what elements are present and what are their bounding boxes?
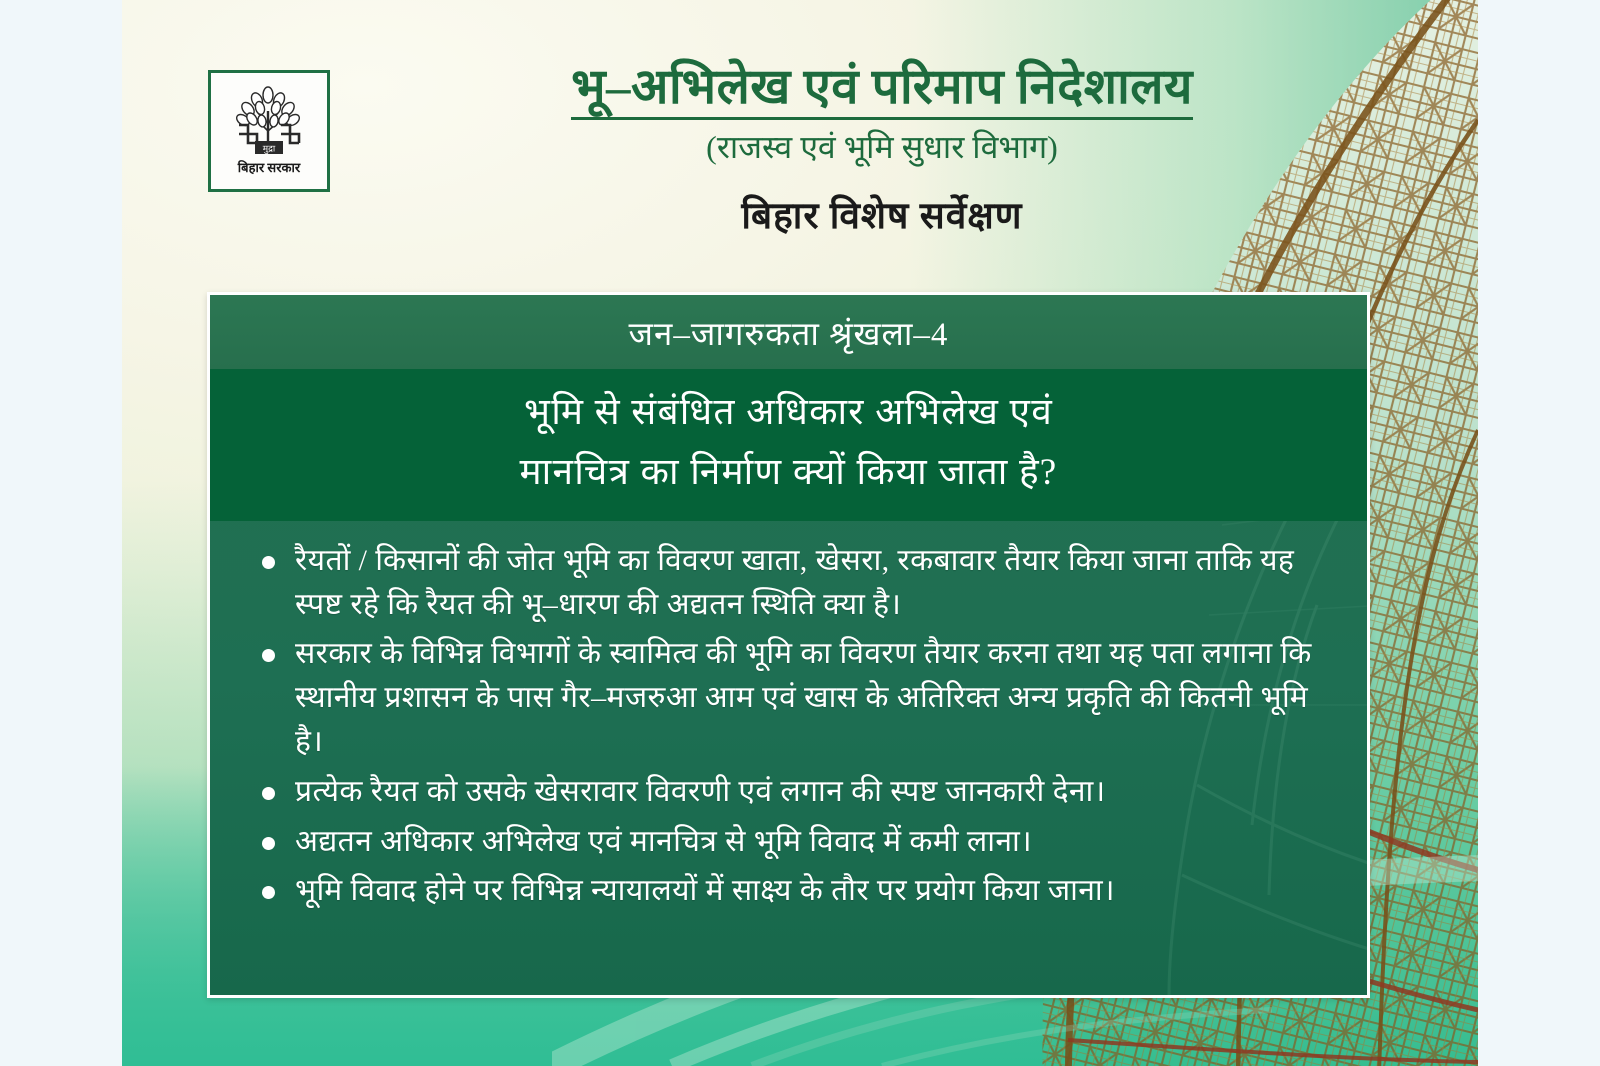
question-line-2: मानचित्र का निर्माण क्यों किया जाता है? [250, 443, 1327, 503]
bullet-dot-icon [262, 886, 275, 899]
list-item-text: सरकार के विभिन्न विभागों के स्वामित्व की… [295, 632, 1321, 763]
poster-header: मुद्रा बिहार सरकार भू–अभिलेख एवं परिमाप … [122, 0, 1478, 280]
list-item: रैयतों / किसानों की जोत भूमि का विवरण खा… [250, 539, 1321, 627]
organization-title: भू–अभिलेख एवं परिमाप निदेशालय [571, 60, 1193, 120]
list-item: प्रत्येक रैयत को उसके खेसरावार विवरणी एव… [250, 770, 1321, 814]
list-item: भूमि विवाद होने पर विभिन्न न्यायालयों मे… [250, 869, 1321, 913]
list-item: सरकार के विभिन्न विभागों के स्वामित्व की… [250, 632, 1321, 763]
organization-subtitle: (राजस्व एवं भूमि सुधार विभाग) [352, 128, 1412, 166]
list-item: अद्यतन अधिकार अभिलेख एवं मानचित्र से भूम… [250, 820, 1321, 864]
poster-canvas: मुद्रा बिहार सरकार भू–अभिलेख एवं परिमाप … [0, 0, 1600, 1066]
title-block: भू–अभिलेख एवं परिमाप निदेशालय (राजस्व एव… [352, 60, 1412, 239]
bullet-list: रैयतों / किसानों की जोत भूमि का विवरण खा… [210, 521, 1367, 913]
question-band: भूमि से संबंधित अधिकार अभिलेख एवं मानचित… [210, 369, 1367, 521]
bullet-dot-icon [262, 837, 275, 850]
list-item-text: रैयतों / किसानों की जोत भूमि का विवरण खा… [295, 539, 1321, 627]
list-item-text: प्रत्येक रैयत को उसके खेसरावार विवरणी एव… [295, 770, 1106, 814]
survey-title: बिहार विशेष सर्वेक्षण [352, 188, 1412, 239]
awareness-series-band: जन–जागरुकता श्रृंखला–4 [210, 295, 1367, 369]
bihar-government-emblem: मुद्रा बिहार सरकार [208, 70, 330, 192]
question-line-1: भूमि से संबंधित अधिकार अभिलेख एवं [250, 383, 1327, 443]
bullet-dot-icon [262, 787, 275, 800]
crop-mark-bottom-left [122, 1056, 138, 1066]
list-item-text: अद्यतन अधिकार अभिलेख एवं मानचित्र से भूम… [295, 820, 1032, 864]
svg-text:मुद्रा: मुद्रा [263, 144, 276, 155]
bullet-dot-icon [262, 649, 275, 662]
right-margin [1478, 0, 1600, 1066]
awareness-series-label: जन–जागरुकता श्रृंखला–4 [629, 310, 949, 355]
bullet-dot-icon [262, 556, 275, 569]
content-panel: जन–जागरुकता श्रृंखला–4 भूमि से संबंधित अ… [207, 292, 1370, 998]
left-margin [0, 0, 122, 1066]
poster-background: मुद्रा बिहार सरकार भू–अभिलेख एवं परिमाप … [122, 0, 1478, 1066]
list-item-text: भूमि विवाद होने पर विभिन्न न्यायालयों मे… [295, 869, 1115, 913]
emblem-caption: बिहार सरकार [237, 160, 301, 175]
